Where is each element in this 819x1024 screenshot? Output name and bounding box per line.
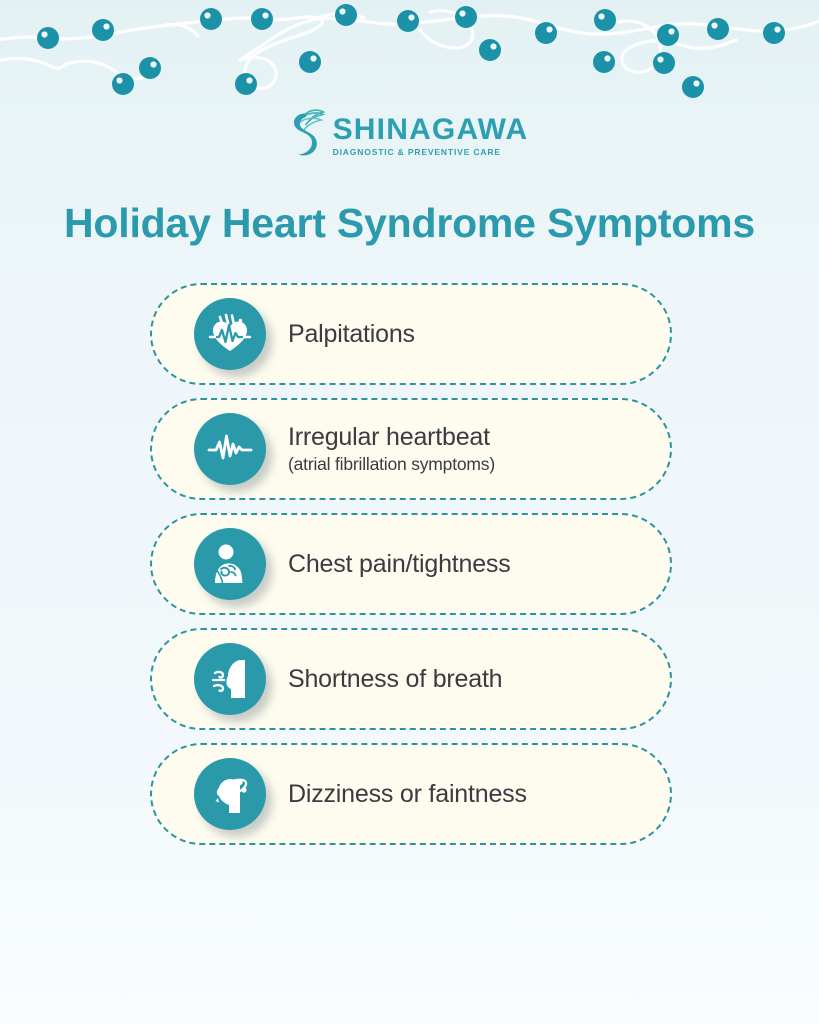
symptom-card-shortness-of-breath: Shortness of breath <box>150 628 672 730</box>
symptom-label: Palpitations <box>288 320 415 349</box>
dizzy-head-orbit-icon <box>194 758 266 830</box>
shinagawa-wing-logo-mark <box>291 108 325 163</box>
ecg-waveform-icon <box>194 413 266 485</box>
heart-pulse-icon <box>194 298 266 370</box>
symptom-card-irregular-heartbeat: Irregular heartbeat (atrial fibrillation… <box>150 398 672 500</box>
symptom-label: Irregular heartbeat <box>288 423 495 452</box>
symptom-label: Dizziness or faintness <box>288 780 527 809</box>
string-lights-decoration <box>0 0 819 115</box>
breathing-face-profile-icon <box>194 643 266 715</box>
symptom-label: Shortness of breath <box>288 665 502 694</box>
symptom-card-chest-pain: Chest pain/tightness <box>150 513 672 615</box>
logo-wordmark: SHINAGAWA <box>333 115 529 145</box>
logo-tagline: DIAGNOSTIC & PREVENTIVE CARE <box>333 148 501 157</box>
person-clutching-chest-icon <box>194 528 266 600</box>
symptom-sublabel: (atrial fibrillation symptoms) <box>288 454 495 475</box>
symptom-label: Chest pain/tightness <box>288 550 511 579</box>
symptom-list: Palpitations Irregular heartbeat (atrial… <box>150 283 672 845</box>
brand-logo: SHINAGAWA DIAGNOSTIC & PREVENTIVE CARE <box>0 108 819 163</box>
symptom-card-dizziness: Dizziness or faintness <box>150 743 672 845</box>
symptom-card-palpitations: Palpitations <box>150 283 672 385</box>
page-title: Holiday Heart Syndrome Symptoms <box>0 200 819 247</box>
